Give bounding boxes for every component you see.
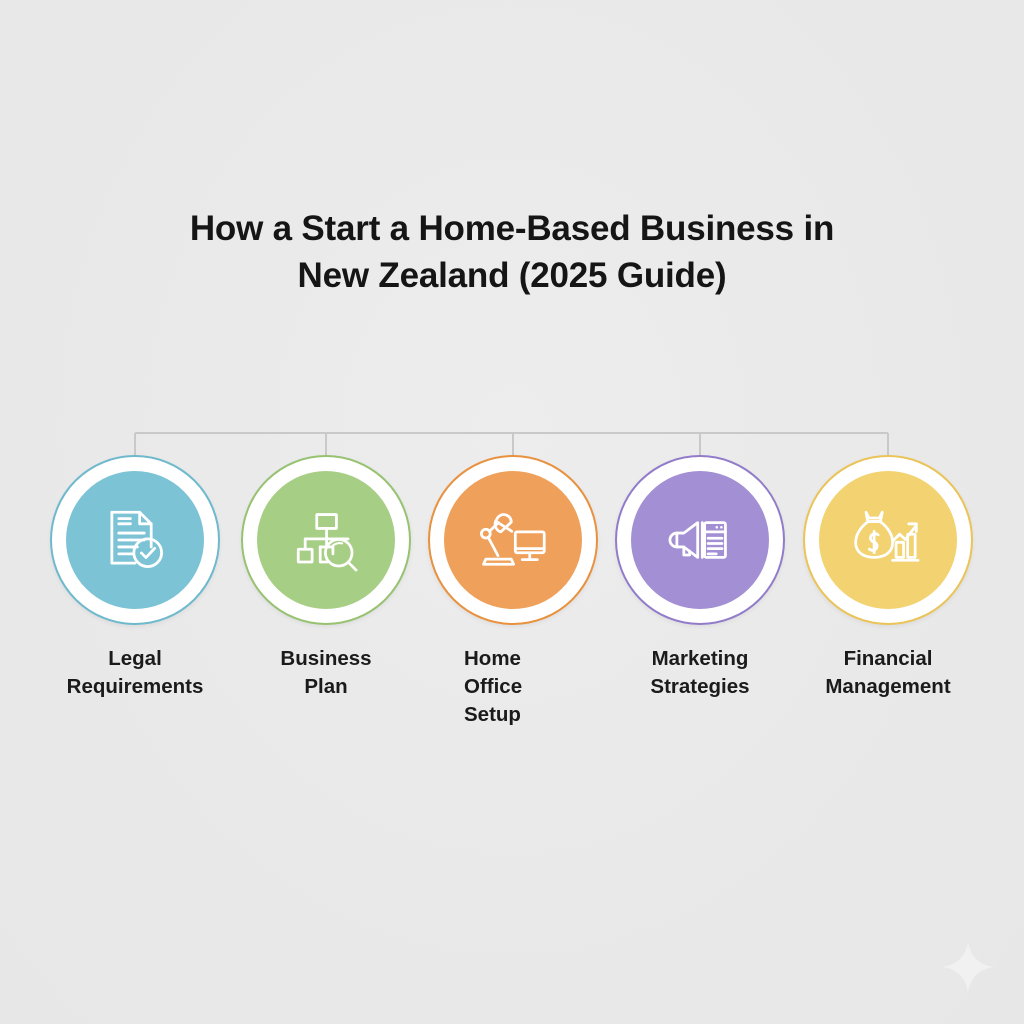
step-label-legal-requirements: Legal Requirements: [42, 645, 228, 701]
document-check-icon: [98, 503, 172, 577]
step-circle-outer-marketing-strategies: [615, 455, 785, 625]
infographic-canvas: How a Start a Home-Based Business in New…: [0, 0, 1024, 1024]
step-label-financial-management: Financial Management: [795, 645, 981, 701]
org-chart-magnifier-icon: [289, 503, 363, 577]
money-bag-growth-chart-icon: [851, 503, 925, 577]
step-marketing-strategies[interactable]: Marketing Strategies: [607, 455, 793, 701]
page-title-line-2: New Zealand (2025 Guide): [0, 252, 1024, 299]
step-circle-inner-business-plan: [257, 471, 395, 609]
step-label-home-office-setup: Home Office Setup: [420, 645, 606, 729]
step-circle-inner-home-office-setup: [444, 471, 582, 609]
page-title: How a Start a Home-Based Business in New…: [0, 205, 1024, 299]
step-home-office-setup[interactable]: Home Office Setup: [420, 455, 606, 729]
page-title-line-1: How a Start a Home-Based Business in: [0, 205, 1024, 252]
step-circle-outer-legal-requirements: [50, 455, 220, 625]
step-circle-inner-marketing-strategies: [631, 471, 769, 609]
sparkle-star-icon: [939, 938, 997, 996]
step-legal-requirements[interactable]: Legal Requirements: [42, 455, 228, 701]
step-circle-outer-home-office-setup: [428, 455, 598, 625]
step-circle-outer-business-plan: [241, 455, 411, 625]
step-circle-inner-legal-requirements: [66, 471, 204, 609]
step-circle-inner-financial-management: [819, 471, 957, 609]
steps-row: Legal Requirements: [0, 455, 1024, 785]
megaphone-browser-icon: [663, 503, 737, 577]
step-business-plan[interactable]: Business Plan: [233, 455, 419, 701]
step-financial-management[interactable]: Financial Management: [795, 455, 981, 701]
step-label-business-plan: Business Plan: [233, 645, 419, 701]
step-label-marketing-strategies: Marketing Strategies: [607, 645, 793, 701]
desk-lamp-monitor-icon: [476, 503, 550, 577]
step-circle-outer-financial-management: [803, 455, 973, 625]
